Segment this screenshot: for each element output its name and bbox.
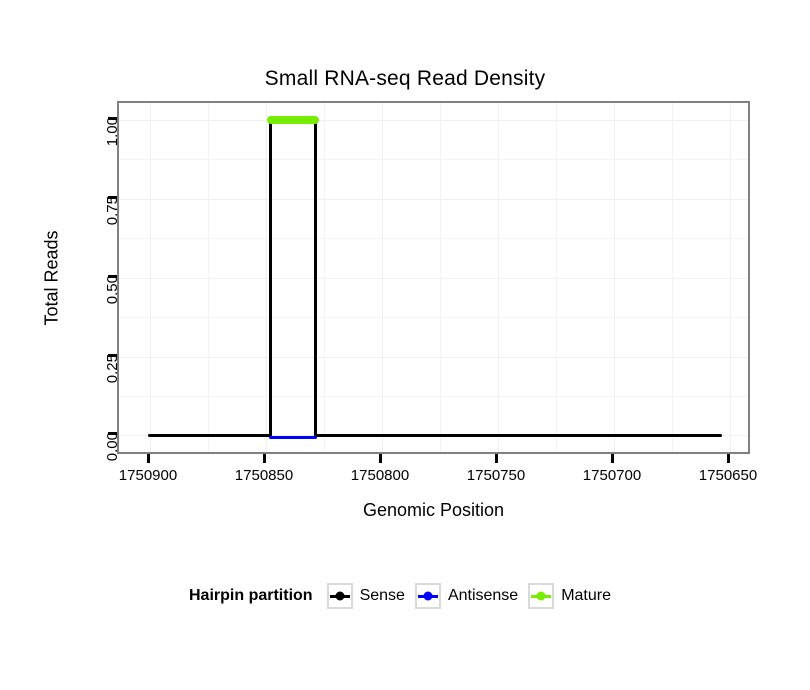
legend-label-antisense: Antisense xyxy=(448,587,518,605)
series-sense-falling-edge xyxy=(314,120,317,436)
y-ticklabel-wrap-0.50: 0.50 xyxy=(103,275,104,276)
legend-item-mature[interactable]: Mature xyxy=(528,583,611,609)
x-tick-1750700 xyxy=(611,454,614,463)
series-sense-rising-edge xyxy=(269,120,272,436)
y-axis-title: Total Reads xyxy=(42,230,63,325)
legend-label-sense: Sense xyxy=(360,587,405,605)
x-ticklabel-1750900: 1750900 xyxy=(119,467,177,484)
y-axis-ticks: 1.00 0.75 0.50 0.25 0.00 xyxy=(117,101,118,454)
plot-panel xyxy=(117,101,750,454)
y-axis-title-wrap: Total Reads xyxy=(41,101,63,454)
x-ticklabel-1750700: 1750700 xyxy=(583,467,641,484)
x-ticklabel-1750650: 1750650 xyxy=(699,467,757,484)
x-tick-1750900 xyxy=(147,454,150,463)
y-ticklabel-0.25: 0.25 xyxy=(104,354,121,383)
y-ticklabel-1.00: 1.00 xyxy=(104,117,121,146)
legend-key-mature-icon xyxy=(528,583,554,609)
chart-title: Small RNA-seq Read Density xyxy=(0,67,810,91)
legend-title: Hairpin partition xyxy=(189,587,313,605)
x-ticklabel-1750850: 1750850 xyxy=(235,467,293,484)
series-sense-baseline-left xyxy=(148,434,272,437)
x-tick-1750850 xyxy=(263,454,266,463)
legend-key-antisense-icon xyxy=(415,583,441,609)
series-sense-baseline-right xyxy=(314,434,722,437)
legend-item-antisense[interactable]: Antisense xyxy=(415,583,518,609)
x-axis-ticks: 1750900 1750850 1750800 1750750 1750700 … xyxy=(117,454,750,464)
series-antisense-segment xyxy=(269,436,317,439)
x-tick-1750750 xyxy=(495,454,498,463)
x-ticklabel-1750800: 1750800 xyxy=(351,467,409,484)
legend: Hairpin partition Sense Antisense Mature xyxy=(0,583,810,609)
data-series-layer xyxy=(119,103,748,452)
legend-key-sense-icon xyxy=(327,583,353,609)
y-ticklabel-0.75: 0.75 xyxy=(104,196,121,225)
y-ticklabel-0.50: 0.50 xyxy=(104,275,121,304)
x-tick-1750800 xyxy=(379,454,382,463)
y-ticklabel-wrap-0.00: 0.00 xyxy=(103,432,104,433)
x-tick-1750650 xyxy=(727,454,730,463)
x-axis-title: Genomic Position xyxy=(117,500,750,521)
legend-label-mature: Mature xyxy=(561,587,611,605)
y-ticklabel-wrap-1.00: 1.00 xyxy=(103,117,104,118)
y-ticklabel-wrap-0.75: 0.75 xyxy=(103,196,104,197)
x-ticklabel-1750750: 1750750 xyxy=(467,467,525,484)
series-mature-segment xyxy=(267,116,319,124)
legend-item-sense[interactable]: Sense xyxy=(327,583,405,609)
y-ticklabel-wrap-0.25: 0.25 xyxy=(103,354,104,355)
